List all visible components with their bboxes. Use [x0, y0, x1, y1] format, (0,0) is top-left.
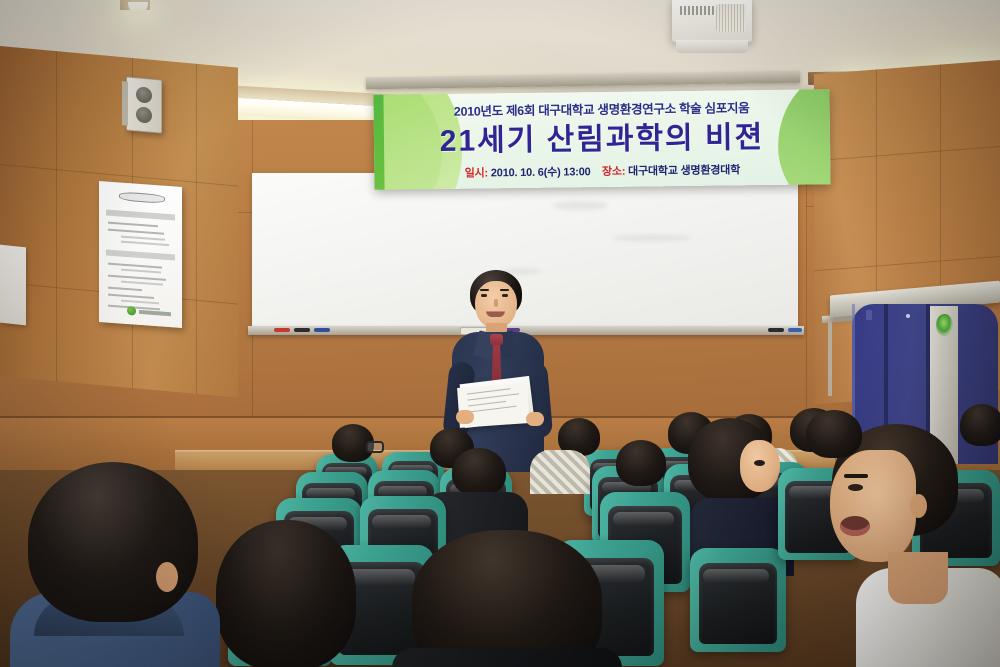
wall-speaker	[126, 76, 162, 133]
speaker-bracket	[122, 81, 128, 126]
program-schedule-poster	[99, 181, 182, 328]
white-shirt-mouth	[840, 516, 870, 536]
presenter-hand-left	[456, 410, 474, 424]
presenter-nose	[494, 299, 498, 307]
poster-emblem-icon	[127, 306, 136, 316]
marker-black	[294, 328, 310, 332]
audience-torso-check	[530, 450, 590, 494]
left-wall-notice	[0, 245, 26, 326]
seat[interactable]	[690, 548, 786, 652]
event-banner: 2010년도 제6회 대구대학교 생명환경연구소 학술 심포지움 21세기 산림…	[373, 89, 830, 190]
marker-red	[274, 328, 290, 332]
eyeglasses-icon	[366, 441, 384, 453]
audience-head-foreground-center	[412, 530, 602, 667]
white-shirt-eye	[848, 484, 863, 491]
projector-lens-housing	[676, 40, 748, 53]
marker-blue-2	[788, 328, 802, 332]
audience-head	[452, 448, 506, 496]
white-shirt-face	[830, 450, 916, 562]
presenter-hand-right	[526, 412, 544, 426]
projector-vent	[716, 4, 746, 32]
ceiling-projector	[672, 0, 752, 42]
turned-student-eye	[754, 460, 765, 466]
audience-head-foreground-left	[216, 520, 356, 667]
white-shirt-ear	[910, 494, 927, 518]
banner-date-value: 2010. 10. 6(수) 13:00	[491, 166, 591, 179]
white-shirt-neck	[888, 552, 948, 604]
marker-dark	[768, 328, 784, 332]
audience-head	[960, 404, 1000, 446]
podium-control-panel[interactable]	[866, 310, 872, 320]
banner-details: 일시: 2010. 10. 6(수) 13:00 장소: 대구대학교 생명환경대…	[374, 160, 830, 182]
speaker-cone-upper	[136, 86, 152, 103]
presenter-eye-right	[502, 294, 508, 297]
speaker-cone-lower	[136, 106, 152, 123]
turned-student-face	[740, 440, 780, 492]
banner-place-value: 대구대학교 생명환경대학	[628, 164, 740, 177]
audience-head-far-right	[806, 410, 862, 458]
poster-section-header-2	[106, 249, 175, 260]
lecture-hall-photo: 2010년도 제6회 대구대학교 생명환경연구소 학술 심포지움 21세기 산림…	[0, 0, 1000, 667]
white-shirt-eyebrow	[844, 474, 868, 478]
leaf-emblem-icon	[936, 314, 953, 336]
poster-org-name	[139, 310, 171, 316]
side-table-leg-left	[828, 320, 832, 396]
podium-knob[interactable]	[906, 314, 910, 318]
blue-hoodie-head	[28, 462, 198, 622]
foreground-center-torso	[392, 648, 622, 667]
banner-place-label: 장소:	[602, 166, 625, 178]
presenter-mouth	[486, 311, 505, 317]
banner-date-label: 일시:	[465, 167, 488, 179]
blue-hoodie-ear	[156, 562, 178, 592]
presenter-eye-left	[481, 294, 487, 297]
poster-title-box	[119, 191, 165, 203]
presenter-tie-knot	[490, 334, 503, 345]
marker-blue	[314, 328, 330, 332]
audience-head	[616, 440, 666, 486]
banner-title: 21세기 산림과학의 비젼	[374, 111, 831, 161]
projector-label	[680, 6, 714, 15]
poster-section-header-1	[106, 209, 175, 220]
